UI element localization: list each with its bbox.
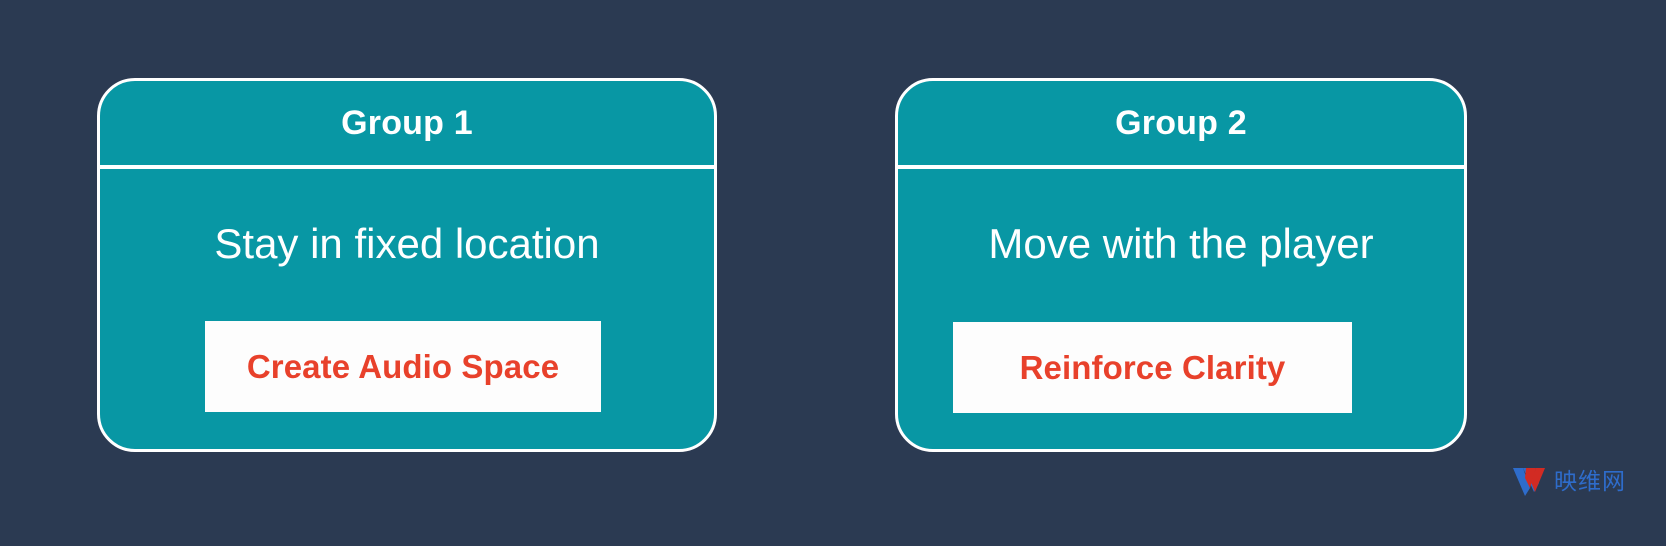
diagram-canvas: Group 1 Stay in fixed location Create Au… [0,0,1666,546]
watermark-text: 映维网 [1554,470,1626,493]
group-card-1-title: Group 1 [341,106,473,140]
create-audio-space-button-label: Create Audio Space [247,350,559,383]
group-card-2-header: Group 2 [898,81,1464,165]
group-card-1-header: Group 1 [100,81,714,165]
group-card-2: Group 2 Move with the player Reinforce C… [895,78,1467,452]
reinforce-clarity-button[interactable]: Reinforce Clarity [953,322,1352,413]
group-card-1: Group 1 Stay in fixed location Create Au… [97,78,717,452]
group-card-2-description: Move with the player [898,221,1464,266]
reinforce-clarity-button-label: Reinforce Clarity [1020,351,1286,384]
group-card-2-title: Group 2 [1115,106,1247,140]
group-card-1-body: Stay in fixed location Create Audio Spac… [100,169,714,449]
group-card-1-description: Stay in fixed location [100,221,714,266]
watermark: 映维网 [1512,466,1626,496]
group-card-2-body: Move with the player Reinforce Clarity [898,169,1464,449]
create-audio-space-button[interactable]: Create Audio Space [205,321,601,412]
yv-logo-icon [1512,466,1546,496]
